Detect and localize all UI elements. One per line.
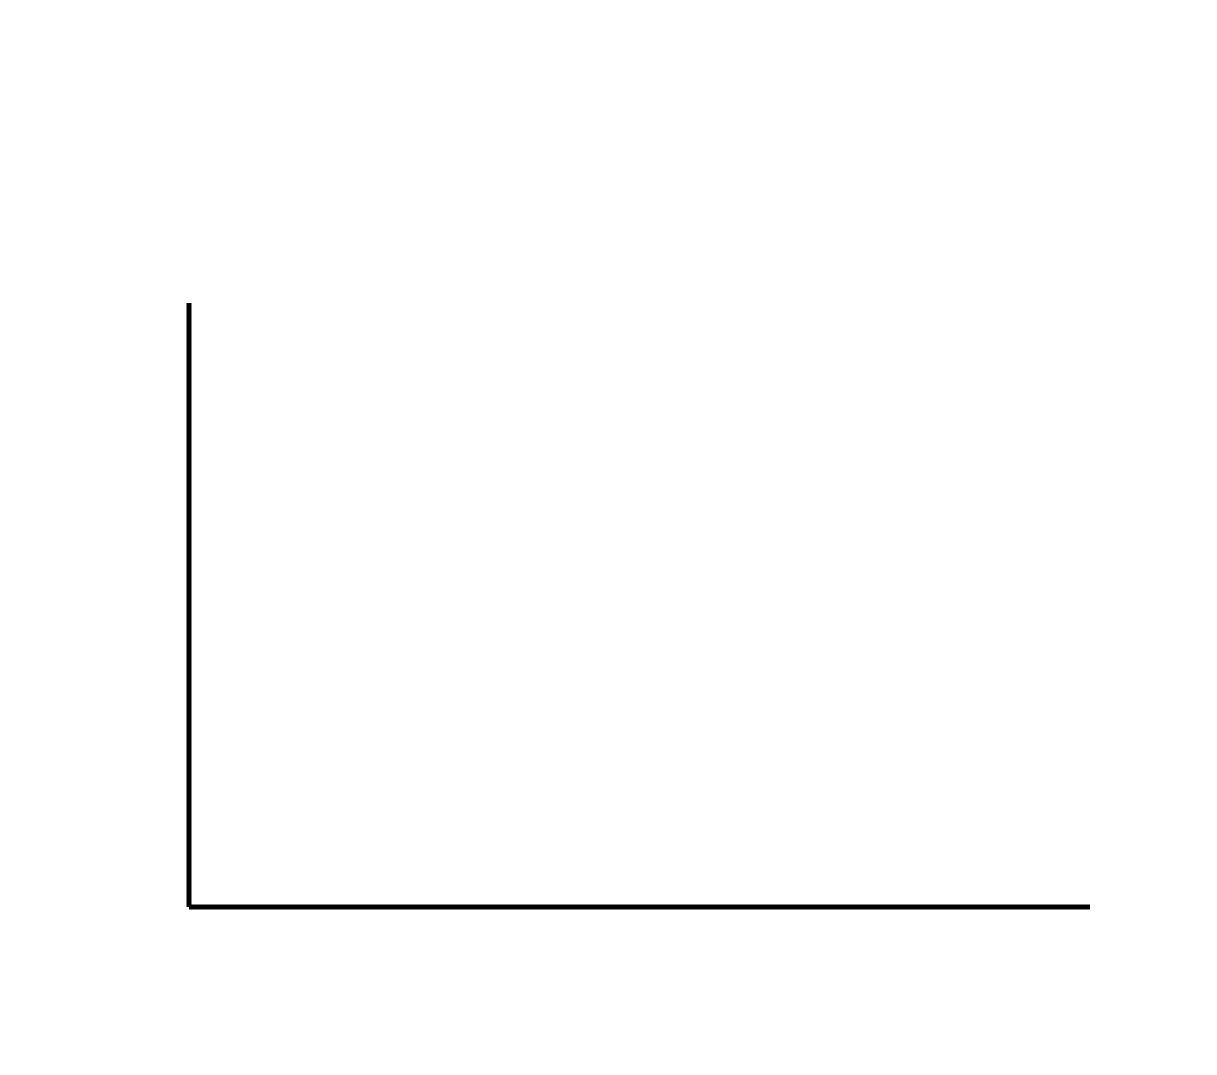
elisa-chart-figure	[0, 0, 1217, 1075]
axis-lines	[189, 303, 1090, 907]
plot-area	[0, 0, 1217, 1075]
